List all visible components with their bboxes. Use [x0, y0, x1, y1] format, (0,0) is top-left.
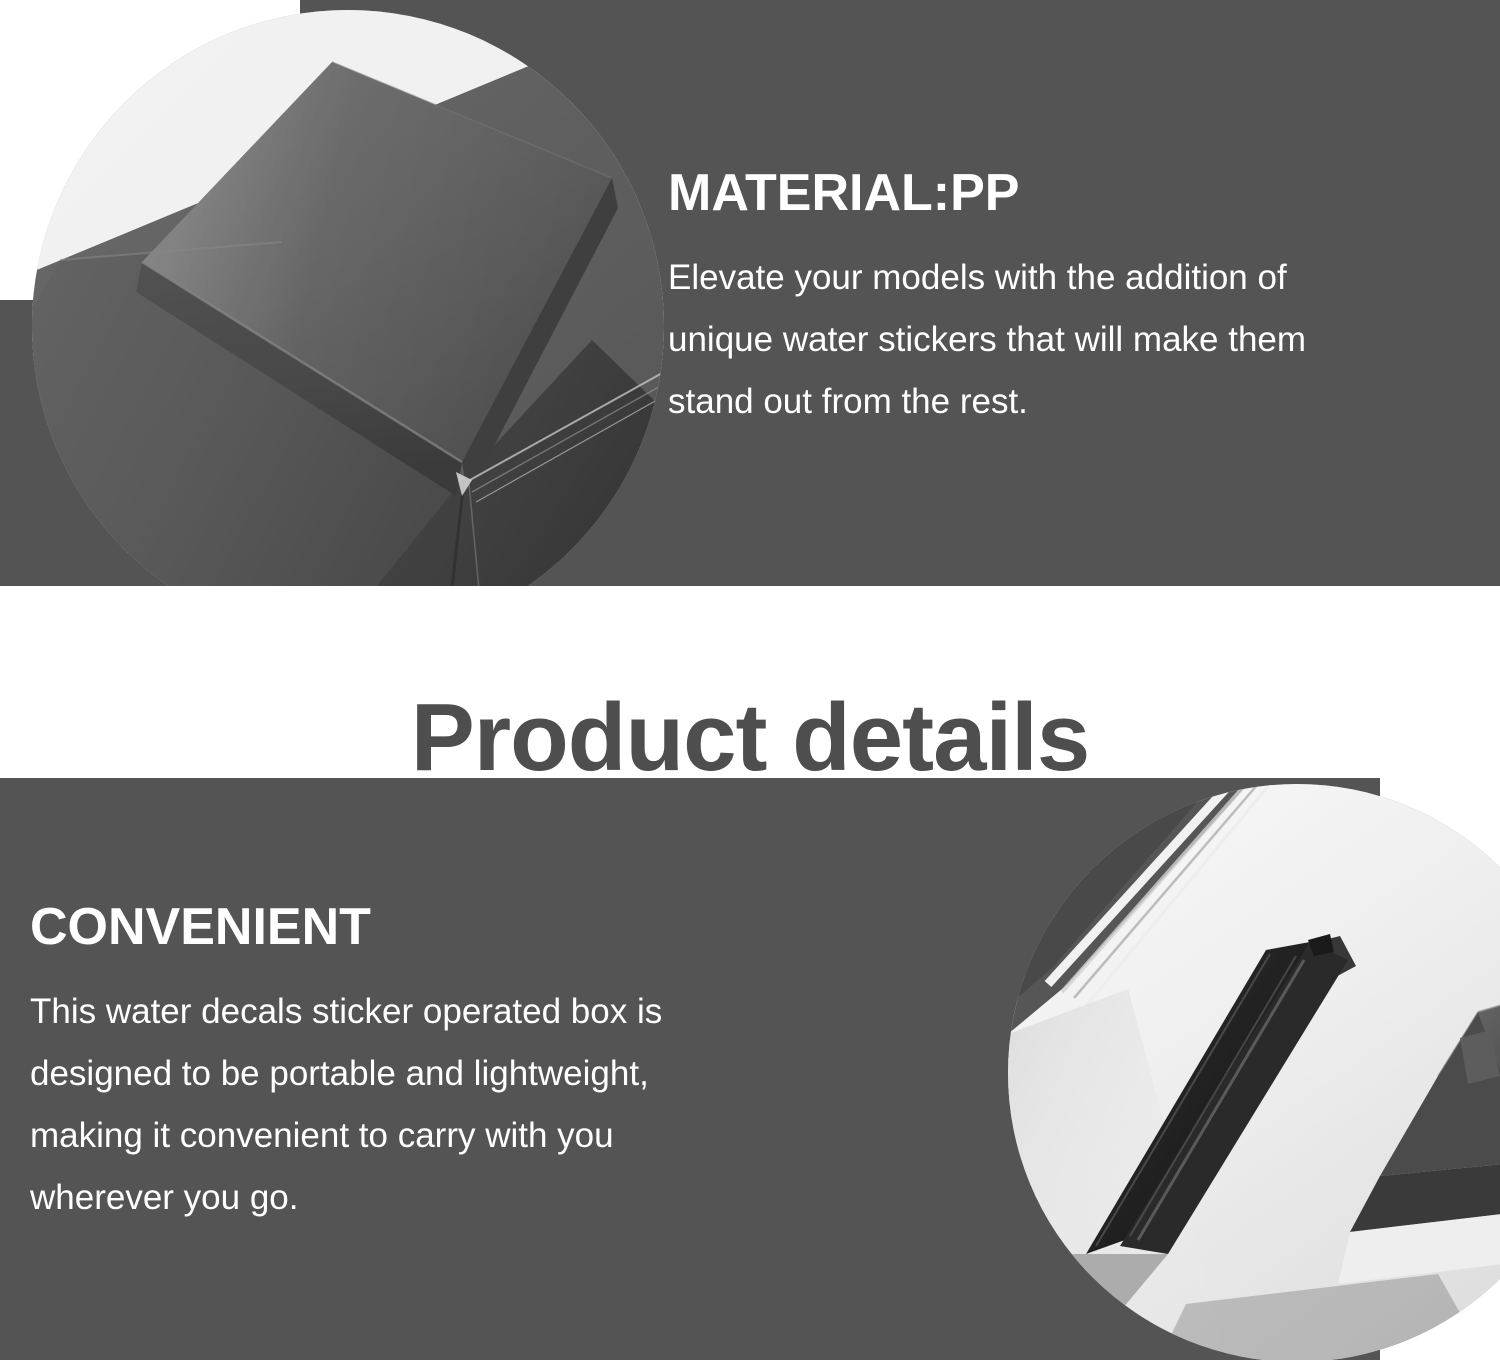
page-bottom-white-strip [0, 1360, 1500, 1368]
product-detail-page: MATERIAL:PP Elevate your models with the… [0, 0, 1500, 1368]
feature-body-material: Elevate your models with the addition of… [668, 247, 1328, 434]
tweezers-on-white-lid-illustration [1008, 784, 1500, 1360]
product-photo-material [32, 10, 664, 586]
product-photo-material-canvas [32, 10, 664, 586]
plastic-box-corner-illustration [32, 10, 664, 586]
feature-panel-material: MATERIAL:PP Elevate your models with the… [0, 0, 1500, 586]
product-photo-convenient [1008, 784, 1500, 1360]
feature-panel-convenient: CONVENIENT This water decals sticker ope… [0, 778, 1500, 1360]
feature-copy-convenient: CONVENIENT This water decals sticker ope… [30, 900, 720, 1230]
feature-title-convenient: CONVENIENT [30, 900, 720, 955]
section-divider-band: Product details [0, 586, 1500, 778]
feature-title-material: MATERIAL:PP [668, 166, 1328, 221]
feature-copy-material: MATERIAL:PP Elevate your models with the… [668, 166, 1328, 433]
page-title: Product details [0, 690, 1500, 786]
feature-body-convenient: This water decals sticker operated box i… [30, 981, 720, 1230]
product-photo-convenient-canvas [1008, 784, 1500, 1360]
